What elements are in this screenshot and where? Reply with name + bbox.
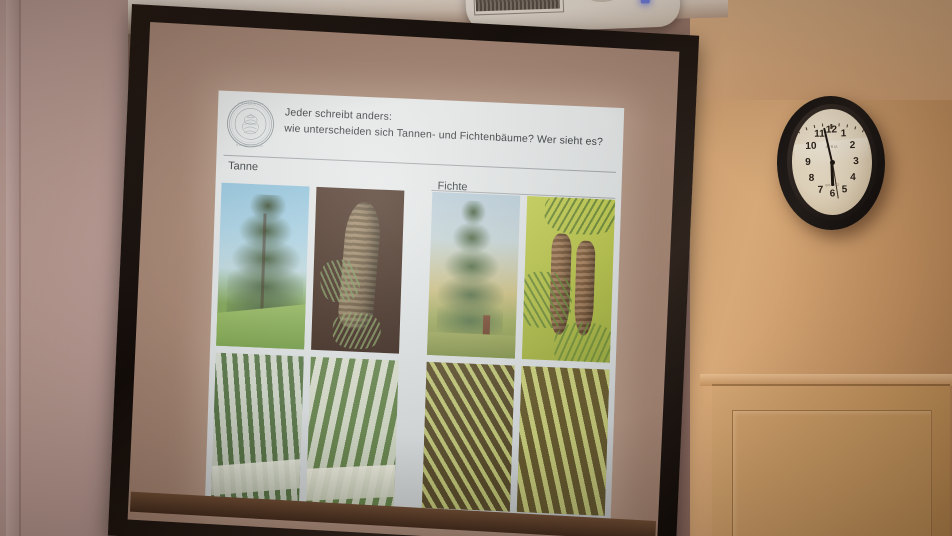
spruce-tree-shape-icon (437, 199, 507, 345)
projected-slide: UNIVERSITAS BAMBERGENSIS Jeder schreibt … (205, 90, 624, 526)
clock-numeral-8: 8 (809, 173, 815, 184)
clock-center-pin (829, 159, 834, 164)
photo-fir-needles-b (306, 357, 399, 507)
projection-board-surface: UNIVERSITAS BAMBERGENSIS Jeder schreibt … (128, 22, 680, 536)
grid-column-gap (406, 191, 425, 355)
clock-numeral-7: 7 (818, 184, 824, 195)
fir-twig-icon (318, 258, 361, 304)
clock-numeral-4: 4 (850, 172, 856, 183)
wall-access-panel (712, 384, 950, 536)
spruce-branch-bottom-icon (553, 321, 615, 363)
photo-spruce-needles-b (517, 366, 610, 516)
photo-spruce-needles-a (422, 362, 515, 512)
clock-numeral-1: 1 (841, 129, 847, 140)
spruce-ground-icon (427, 332, 516, 359)
clock-tick (855, 126, 857, 129)
spruce-branch-top-icon (544, 196, 616, 236)
clock-tick (847, 124, 849, 127)
clock-tick (822, 124, 823, 127)
spruce-needle-texture-b-icon (517, 366, 610, 516)
lecture-room-photo: UNIVERSITAS BAMBERGENSIS Jeder schreibt … (0, 0, 952, 536)
photo-spruce-tree (427, 192, 520, 359)
wall-corner-line (19, 0, 21, 536)
fir-twig-lower-icon (332, 312, 381, 350)
university-seal-icon: UNIVERSITAS BAMBERGENSIS (225, 98, 277, 150)
clock-tick (806, 127, 808, 130)
wall-clock: ATRIA QUARTZ 121234567891011 (776, 95, 886, 231)
clock-numeral-10: 10 (805, 141, 816, 152)
fir-grass-icon (216, 304, 309, 350)
projector-vent-frame (473, 0, 564, 15)
clock-tick (862, 129, 864, 132)
spruce-needle-texture-icon (422, 362, 515, 512)
projector-lens-icon (585, 0, 620, 3)
label-tanne: Tanne (228, 160, 258, 173)
wall-corner-strip (6, 0, 19, 536)
wall-panel-inset (732, 410, 932, 536)
clock-numeral-11: 11 (814, 129, 825, 140)
clock-numeral-3: 3 (853, 156, 859, 167)
clock-tick (798, 130, 800, 133)
clock-tick (814, 125, 816, 128)
photo-fir-tree (216, 183, 309, 350)
clock-numeral-6: 6 (830, 188, 836, 199)
photo-spruce-cone (522, 196, 615, 363)
clock-numeral-5: 5 (842, 184, 848, 195)
spruce-branch-left-icon (522, 271, 572, 329)
slide-title: Jeder schreibt anders: wie unterscheiden… (284, 100, 616, 151)
grid-column-gap-lower (401, 361, 420, 507)
photo-fir-needles-a (211, 353, 304, 503)
clock-numeral-2: 2 (850, 140, 856, 151)
svg-text:UNIVERSITAS: UNIVERSITAS (238, 102, 264, 106)
svg-text:BAMBERGENSIS: BAMBERGENSIS (236, 144, 263, 148)
clock-tick (839, 123, 840, 126)
projector-power-led-icon (641, 0, 650, 4)
projection-board-frame: UNIVERSITAS BAMBERGENSIS Jeder schreibt … (108, 4, 699, 536)
slide-photo-grid (211, 183, 615, 516)
fir-needle-stem-b-icon (306, 465, 399, 502)
clock-numeral-9: 9 (805, 157, 811, 168)
clock-tick (831, 124, 833, 129)
photo-fir-cone (311, 187, 404, 354)
right-wall-upper (690, 0, 952, 100)
